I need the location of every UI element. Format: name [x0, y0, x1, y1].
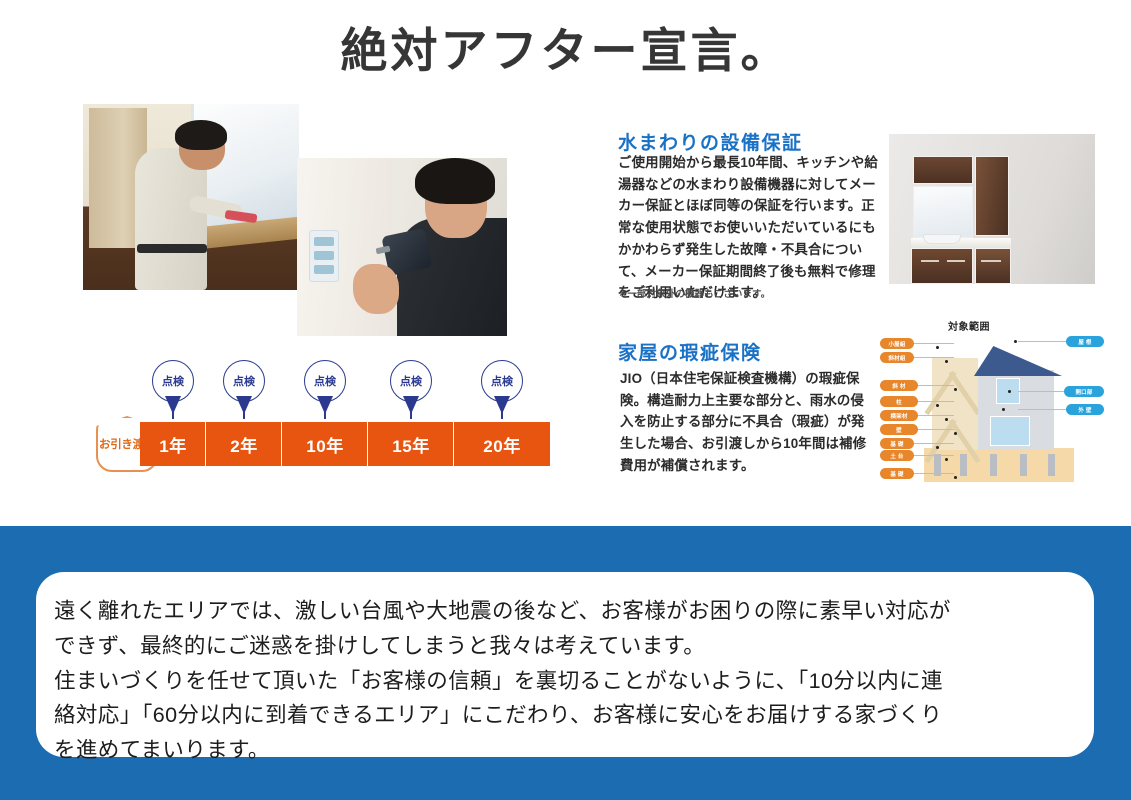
diagram-label-left: 柱: [880, 396, 918, 407]
upper-cabinet-tall: [975, 156, 1009, 236]
foundation-pier: [990, 454, 997, 476]
callout-line: [918, 401, 954, 402]
callout-dot: [945, 458, 948, 461]
callout-dot: [1002, 408, 1005, 411]
hand-shape: [353, 264, 399, 314]
callout-line: [914, 343, 954, 344]
inspection-timeline: お引き渡し 1年2年10年15年20年 点検点検点検点検点検: [96, 360, 566, 482]
callout-dot: [954, 476, 957, 479]
switch-plate-shape: [309, 230, 339, 282]
house-coverage-diagram: 対象範囲 小屋組斜材組斜 材柱横架材壁基 礎土 台基 礎屋 根開口部外 壁: [878, 318, 1106, 486]
foundation-pier: [960, 454, 967, 476]
switch-rocker: [314, 251, 334, 260]
brace-shape: [948, 371, 980, 415]
section-heading-water-warranty: 水まわりの設備保証: [618, 128, 803, 155]
section-body-defect-insurance: JIO（日本住宅保証検査機構）の瑕疵保険。構造耐力上主要な部分と、雨水の侵入を防…: [620, 368, 870, 477]
upper-cabinet-left: [913, 156, 973, 184]
diagram-label-left: 基 礎: [880, 468, 914, 479]
timeline-segment: 10年: [282, 422, 368, 466]
lower-cabinet-right: [975, 248, 1011, 284]
diagram-label-right: 開口部: [1064, 386, 1104, 397]
diagram-label-right: 外 壁: [1066, 404, 1104, 415]
mirror-shape: [913, 186, 973, 238]
statement-panel: 遠く離れたエリアでは、激しい台風や大地震の後など、お客様がお困りの際に素早い対応…: [0, 523, 1131, 800]
diagram-label-left: 小屋組: [880, 338, 914, 349]
marker-pin-icon: [403, 396, 419, 414]
callout-dot: [936, 446, 939, 449]
lower-cabinet-left: [911, 248, 973, 284]
worker-belt-shape: [137, 244, 207, 253]
callout-line: [1018, 391, 1064, 392]
after-service-declaration-page: 絶対アフター宣言。: [0, 0, 1131, 800]
callout-dot: [945, 360, 948, 363]
marker-pin-icon: [236, 396, 252, 414]
callout-dot: [954, 388, 957, 391]
timeline-bar: 1年2年10年15年20年: [140, 422, 550, 466]
inspection-marker: 点検: [304, 360, 346, 402]
cabinet-handle: [921, 260, 939, 262]
diagram-title: 対象範囲: [948, 318, 990, 333]
section-heading-defect-insurance: 家屋の瑕疵保険: [618, 338, 762, 365]
callout-line: [914, 473, 954, 474]
photo-inspection-window: [83, 104, 299, 290]
inspection-marker-label: 点検: [223, 360, 265, 402]
inspection-marker-label: 点検: [390, 360, 432, 402]
callout-line: [914, 357, 954, 358]
callout-dot: [936, 346, 939, 349]
inspection-marker: 点検: [223, 360, 265, 402]
marker-pin-icon: [165, 396, 181, 414]
person-hair-shape: [415, 158, 495, 204]
callout-dot: [936, 404, 939, 407]
inspection-marker-label: 点検: [152, 360, 194, 402]
callout-dot: [1008, 390, 1011, 393]
timeline-segment: 2年: [206, 422, 282, 466]
foundation-pier: [1048, 454, 1055, 476]
diagram-label-left: 土 台: [880, 450, 914, 461]
statement-text: 遠く離れたエリアでは、激しい台風や大地震の後など、お客様がお困りの際に素早い対応…: [54, 594, 1074, 768]
switch-rocker: [314, 265, 334, 274]
callout-line: [1018, 409, 1066, 410]
section-body-water-warranty: ご使用開始から最長10年間、キッチンや給湯器などの水まわり設備機器に対してメーカ…: [618, 152, 888, 304]
diagram-label-left: 斜材組: [880, 352, 914, 363]
callout-line: [914, 455, 954, 456]
switch-rocker: [314, 237, 334, 246]
inspection-marker-label: 点検: [481, 360, 523, 402]
statement-card: 遠く離れたエリアでは、激しい台風や大地震の後など、お客様がお困りの際に素早い対応…: [36, 572, 1094, 757]
diagram-label-left: 基 礎: [880, 438, 914, 449]
callout-line: [918, 429, 954, 430]
inspection-marker: 点検: [481, 360, 523, 402]
callout-line: [1018, 341, 1066, 342]
photo-kitchen-unit: [889, 134, 1095, 284]
roof-shape: [974, 346, 1062, 376]
lower-window-shape: [990, 416, 1030, 446]
timeline-segment: 20年: [454, 422, 550, 466]
worker-hair-shape: [175, 120, 227, 150]
inspection-marker: 点検: [152, 360, 194, 402]
timeline-segment: 15年: [368, 422, 454, 466]
callout-dot: [954, 432, 957, 435]
callout-line: [918, 385, 954, 386]
cabinet-handle: [981, 260, 1001, 262]
photo-drill-work: [297, 158, 507, 336]
section-note-water-warranty: ※一部対象外の機器もございます。: [618, 286, 888, 300]
diagram-label-left: 斜 材: [880, 380, 918, 391]
cabinet-handle: [947, 260, 965, 262]
marker-pin-icon: [317, 396, 333, 414]
diagram-label-left: 横架材: [880, 410, 918, 421]
callout-dot: [945, 418, 948, 421]
timeline-segment: 1年: [140, 422, 206, 466]
page-title: 絶対アフター宣言。: [0, 24, 1131, 78]
marker-pin-icon: [494, 396, 510, 414]
inspection-marker-label: 点検: [304, 360, 346, 402]
callout-line: [914, 443, 954, 444]
callout-line: [918, 415, 954, 416]
foundation-pier: [1020, 454, 1027, 476]
diagram-label-left: 壁: [880, 424, 918, 435]
basin-shape: [923, 234, 961, 244]
inspection-marker: 点検: [390, 360, 432, 402]
diagram-label-right: 屋 根: [1066, 336, 1104, 347]
callout-dot: [1014, 340, 1017, 343]
